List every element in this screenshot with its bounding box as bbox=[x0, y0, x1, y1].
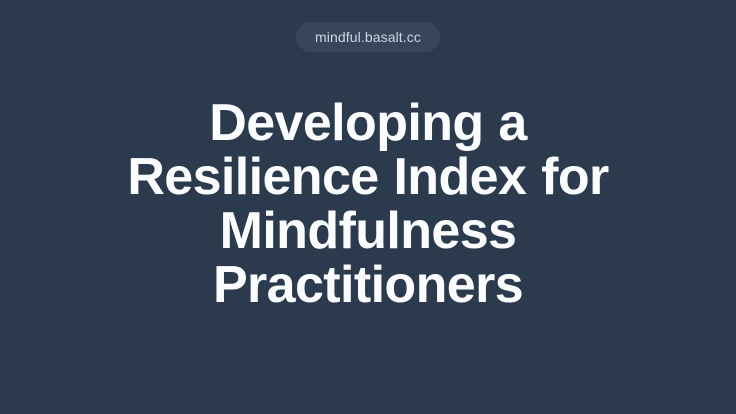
page-title: Developing a Resilience Index for Mindfu… bbox=[127, 96, 608, 312]
page-title-line-1: Developing a bbox=[127, 96, 608, 150]
share-card: mindful.basalt.cc Developing a Resilienc… bbox=[0, 0, 736, 414]
page-title-line-3: Mindfulness bbox=[127, 204, 608, 258]
domain-badge: mindful.basalt.cc bbox=[296, 22, 440, 52]
page-title-line-4: Practitioners bbox=[127, 258, 608, 312]
headline-block: Developing a Resilience Index for Mindfu… bbox=[48, 96, 688, 312]
badge-row: mindful.basalt.cc bbox=[0, 22, 736, 52]
page-title-line-2: Resilience Index for bbox=[127, 150, 608, 204]
